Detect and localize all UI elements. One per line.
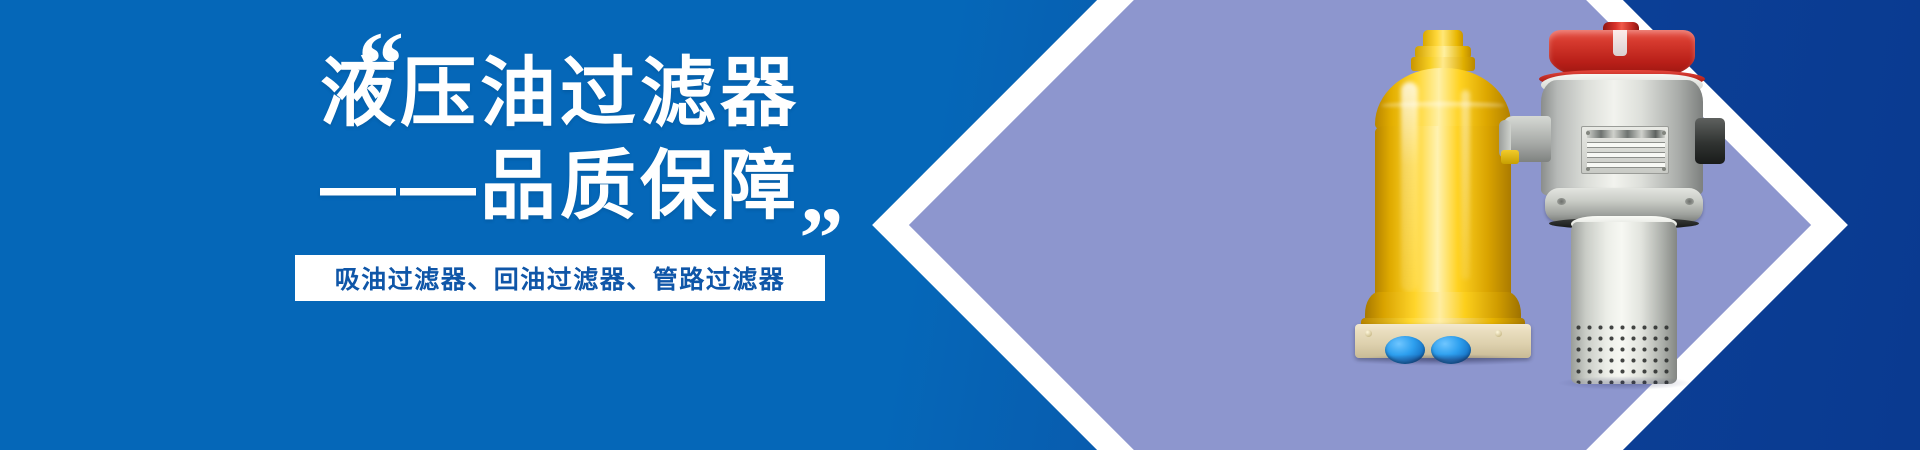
headline-line-1: 液压油过滤器 [0,48,800,141]
banner-text-block: “ 液压油过滤器 ——品质保障 „ 吸油过滤器、回油过滤器、管路过滤器 [0,0,1000,450]
banner-headline: 液压油过滤器 ——品质保障 [0,48,870,233]
subtitle-text: 吸油过滤器、回油过滤器、管路过滤器 [335,260,786,296]
subtitle-bar: 吸油过滤器、回油过滤器、管路过滤器 [295,255,825,301]
promo-banner: “ 液压油过滤器 ——品质保障 „ 吸油过滤器、回油过滤器、管路过滤器 [0,0,1920,450]
headline-line-2: ——品质保障 [0,141,800,234]
closing-quote-mark: „ [800,150,844,238]
decorative-diamond [872,0,1848,450]
